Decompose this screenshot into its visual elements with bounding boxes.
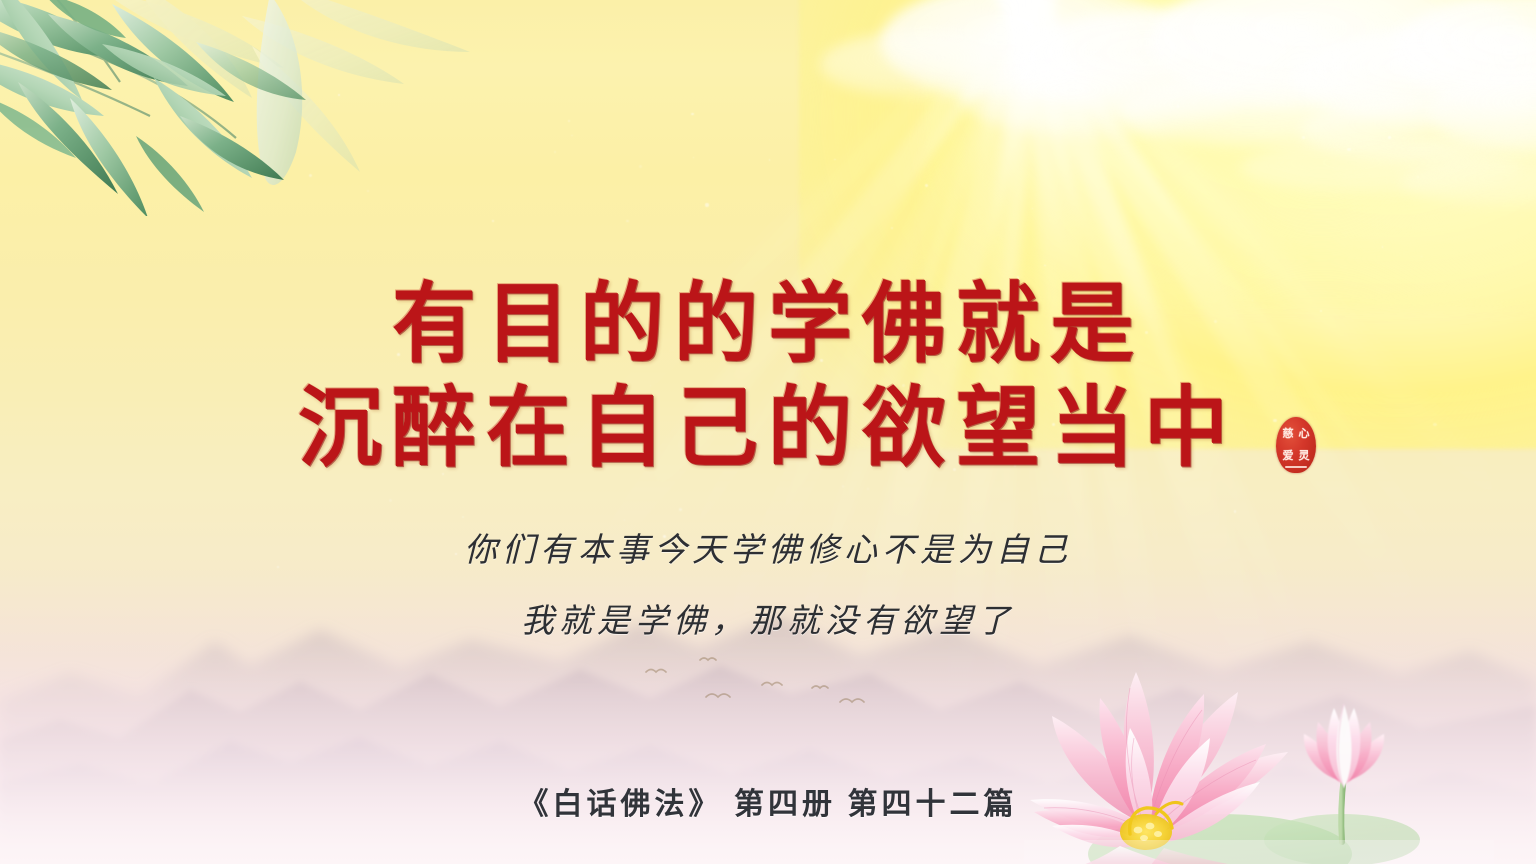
title-line-2-text: 沉醉在自己的欲望当中 [298, 374, 1238, 482]
seal-char-2: 心 [1299, 428, 1310, 439]
seal-character-grid: 慈 心 爱 灵 [1280, 422, 1312, 467]
footer-block: 《白话佛法》 第四册 第四十二篇 [0, 779, 1536, 823]
title-line-1: 有目的的学佛就是 [0, 270, 1536, 378]
slide-canvas: 有目的的学佛就是 沉醉在自己的欲望当中 慈 心 爱 灵 你们有本事今天学佛修心不… [0, 0, 1536, 864]
seal-char-3: 爱 [1283, 450, 1294, 461]
title-line-1-text: 有目的的学佛就是 [392, 270, 1144, 378]
subtitle-line-2: 我就是学佛，那就没有欲望了 [0, 587, 1536, 658]
text-content: 有目的的学佛就是 沉醉在自己的欲望当中 慈 心 爱 灵 你们有本事今天学佛修心不… [0, 0, 1536, 864]
subtitle-line-1: 你们有本事今天学佛修心不是为自己 [0, 516, 1536, 587]
seal-stamp: 慈 心 爱 灵 [1276, 417, 1316, 473]
subtitle-block: 你们有本事今天学佛修心不是为自己 我就是学佛，那就没有欲望了 [0, 516, 1536, 658]
seal-bottom-bar [1285, 466, 1307, 468]
seal-char-1: 慈 [1283, 428, 1294, 439]
seal-char-4: 灵 [1299, 450, 1310, 461]
source-citation: 《白话佛法》 第四册 第四十二篇 [519, 779, 1018, 823]
seal-oval-icon: 慈 心 爱 灵 [1276, 417, 1316, 473]
